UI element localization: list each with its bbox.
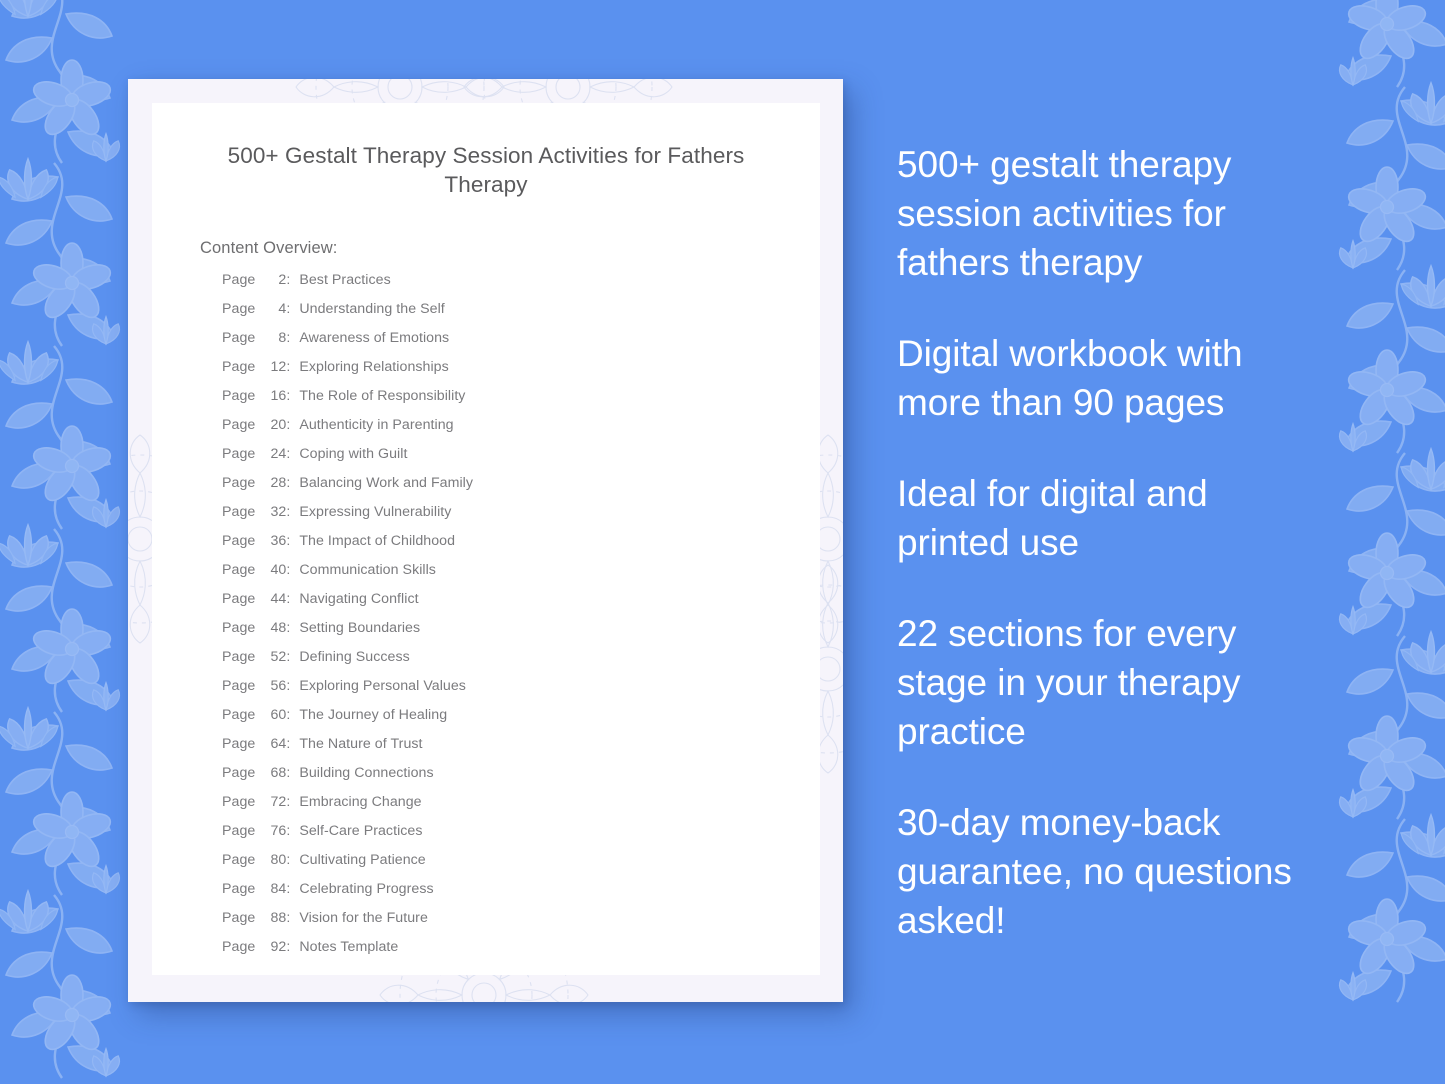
toc-entry[interactable]: Page16:The Role of Responsibility xyxy=(222,388,820,417)
toc-entry-title: The Journey of Healing xyxy=(299,707,447,723)
toc-page-number: 16 xyxy=(260,388,286,404)
toc-entry[interactable]: Page52:Defining Success xyxy=(222,649,820,678)
toc-entry[interactable]: Page44:Navigating Conflict xyxy=(222,591,820,620)
toc-colon: : xyxy=(286,852,290,868)
toc-entry-title: Building Connections xyxy=(299,765,433,781)
toc-page-word: Page xyxy=(222,504,255,520)
toc-page-word: Page xyxy=(222,939,255,955)
toc-page-number: 56 xyxy=(260,678,286,694)
toc-colon: : xyxy=(286,939,290,955)
toc-entry-title: The Role of Responsibility xyxy=(299,388,465,404)
toc-page-word: Page xyxy=(222,910,255,926)
toc-colon: : xyxy=(286,417,290,433)
toc-entry-title: Best Practices xyxy=(299,272,390,288)
floral-vine-icon xyxy=(0,0,144,1084)
toc-entry[interactable]: Page48:Setting Boundaries xyxy=(222,620,820,649)
floral-vine-icon xyxy=(1315,0,1445,1084)
toc-entry[interactable]: Page56:Exploring Personal Values xyxy=(222,678,820,707)
marketing-line: 22 sections for every stage in your ther… xyxy=(897,609,1317,756)
toc-page-number: 92 xyxy=(260,939,286,955)
toc-entry-title: Communication Skills xyxy=(299,562,436,578)
toc-colon: : xyxy=(286,881,290,897)
toc-page-word: Page xyxy=(222,417,255,433)
toc-page-number: 4 xyxy=(260,301,286,317)
toc-page-number: 20 xyxy=(260,417,286,433)
toc-page-word: Page xyxy=(222,620,255,636)
toc-page-number: 36 xyxy=(260,533,286,549)
toc-entry-title: Celebrating Progress xyxy=(299,881,433,897)
toc-entry[interactable]: Page92:Notes Template xyxy=(222,939,820,968)
toc-entry-title: Self-Care Practices xyxy=(299,823,422,839)
toc-entry[interactable]: Page84:Celebrating Progress xyxy=(222,881,820,910)
toc-colon: : xyxy=(286,910,290,926)
toc-page-word: Page xyxy=(222,823,255,839)
toc-colon: : xyxy=(286,388,290,404)
toc-entry[interactable]: Page28:Balancing Work and Family xyxy=(222,475,820,504)
toc-entry[interactable]: Page40:Communication Skills xyxy=(222,562,820,591)
workbook-cover-card: 500+ Gestalt Therapy Session Activities … xyxy=(128,79,843,1002)
toc-colon: : xyxy=(286,272,290,288)
toc-page-number: 48 xyxy=(260,620,286,636)
toc-page-word: Page xyxy=(222,330,255,346)
toc-entry-title: Awareness of Emotions xyxy=(299,330,449,346)
toc-page-number: 88 xyxy=(260,910,286,926)
marketing-line: Digital workbook with more than 90 pages xyxy=(897,329,1317,427)
toc-page-word: Page xyxy=(222,475,255,491)
toc-entry[interactable]: Page12:Exploring Relationships xyxy=(222,359,820,388)
toc-page-word: Page xyxy=(222,707,255,723)
toc-colon: : xyxy=(286,620,290,636)
toc-page-number: 2 xyxy=(260,272,286,288)
toc-colon: : xyxy=(286,678,290,694)
toc-entry[interactable]: Page2:Best Practices xyxy=(222,272,820,301)
marketing-copy: 500+ gestalt therapy session activities … xyxy=(897,140,1317,945)
toc-entry[interactable]: Page8:Awareness of Emotions xyxy=(222,330,820,359)
toc-colon: : xyxy=(286,562,290,578)
toc-colon: : xyxy=(286,736,290,752)
toc-page-word: Page xyxy=(222,591,255,607)
toc-page-number: 44 xyxy=(260,591,286,607)
toc-page-number: 68 xyxy=(260,765,286,781)
toc-entry[interactable]: Page76:Self-Care Practices xyxy=(222,823,820,852)
table-of-contents: Page2:Best PracticesPage4:Understanding … xyxy=(222,272,820,968)
marketing-line: Ideal for digital and printed use xyxy=(897,469,1317,567)
toc-entry-title: Embracing Change xyxy=(299,794,421,810)
toc-page-number: 84 xyxy=(260,881,286,897)
toc-colon: : xyxy=(286,649,290,665)
toc-entry-title: Setting Boundaries xyxy=(299,620,420,636)
toc-entry-title: Defining Success xyxy=(299,649,409,665)
toc-entry[interactable]: Page36:The Impact of Childhood xyxy=(222,533,820,562)
marketing-line: 500+ gestalt therapy session activities … xyxy=(897,140,1317,287)
toc-page-number: 32 xyxy=(260,504,286,520)
document-page: 500+ Gestalt Therapy Session Activities … xyxy=(152,103,820,975)
toc-page-word: Page xyxy=(222,359,255,375)
toc-entry-title: Authenticity in Parenting xyxy=(299,417,453,433)
toc-page-word: Page xyxy=(222,301,255,317)
toc-page-number: 72 xyxy=(260,794,286,810)
toc-entry-title: Notes Template xyxy=(299,939,398,955)
toc-page-word: Page xyxy=(222,562,255,578)
toc-page-number: 52 xyxy=(260,649,286,665)
toc-entry-title: The Nature of Trust xyxy=(299,736,422,752)
toc-page-word: Page xyxy=(222,446,255,462)
toc-entry[interactable]: Page88:Vision for the Future xyxy=(222,910,820,939)
toc-entry[interactable]: Page80:Cultivating Patience xyxy=(222,852,820,881)
toc-entry-title: Cultivating Patience xyxy=(299,852,425,868)
toc-colon: : xyxy=(286,330,290,346)
toc-entry-title: Exploring Relationships xyxy=(299,359,448,375)
toc-page-number: 28 xyxy=(260,475,286,491)
toc-entry-title: Coping with Guilt xyxy=(299,446,407,462)
toc-entry[interactable]: Page4:Understanding the Self xyxy=(222,301,820,330)
toc-entry[interactable]: Page68:Building Connections xyxy=(222,765,820,794)
toc-page-word: Page xyxy=(222,533,255,549)
toc-colon: : xyxy=(286,707,290,723)
toc-page-word: Page xyxy=(222,881,255,897)
marketing-line: 30-day money-back guarantee, no question… xyxy=(897,798,1317,945)
toc-entry[interactable]: Page20:Authenticity in Parenting xyxy=(222,417,820,446)
content-overview-label: Content Overview: xyxy=(200,239,820,258)
toc-page-word: Page xyxy=(222,678,255,694)
toc-page-word: Page xyxy=(222,649,255,665)
toc-colon: : xyxy=(286,359,290,375)
toc-page-number: 8 xyxy=(260,330,286,346)
toc-entry-title: Vision for the Future xyxy=(299,910,428,926)
toc-entry-title: Expressing Vulnerability xyxy=(299,504,451,520)
toc-colon: : xyxy=(286,446,290,462)
toc-colon: : xyxy=(286,794,290,810)
toc-colon: : xyxy=(286,533,290,549)
toc-page-word: Page xyxy=(222,794,255,810)
toc-entry-title: Navigating Conflict xyxy=(299,591,418,607)
toc-page-word: Page xyxy=(222,765,255,781)
toc-entry[interactable]: Page60:The Journey of Healing xyxy=(222,707,820,736)
toc-colon: : xyxy=(286,765,290,781)
toc-page-number: 24 xyxy=(260,446,286,462)
toc-colon: : xyxy=(286,301,290,317)
toc-colon: : xyxy=(286,823,290,839)
toc-page-word: Page xyxy=(222,736,255,752)
toc-page-word: Page xyxy=(222,272,255,288)
toc-entry[interactable]: Page64:The Nature of Trust xyxy=(222,736,820,765)
toc-entry-title: Exploring Personal Values xyxy=(299,678,466,694)
page-title: 500+ Gestalt Therapy Session Activities … xyxy=(196,141,776,199)
toc-entry-title: The Impact of Childhood xyxy=(299,533,455,549)
toc-colon: : xyxy=(286,504,290,520)
toc-colon: : xyxy=(286,591,290,607)
toc-page-number: 60 xyxy=(260,707,286,723)
toc-page-number: 80 xyxy=(260,852,286,868)
toc-page-word: Page xyxy=(222,388,255,404)
toc-page-number: 76 xyxy=(260,823,286,839)
toc-page-number: 12 xyxy=(260,359,286,375)
toc-entry[interactable]: Page24:Coping with Guilt xyxy=(222,446,820,475)
toc-entry-title: Understanding the Self xyxy=(299,301,444,317)
toc-page-number: 64 xyxy=(260,736,286,752)
toc-entry[interactable]: Page72:Embracing Change xyxy=(222,794,820,823)
product-mockup-canvas: 500+ Gestalt Therapy Session Activities … xyxy=(0,0,1445,1084)
toc-entry-title: Balancing Work and Family xyxy=(299,475,473,491)
toc-colon: : xyxy=(286,475,290,491)
toc-entry[interactable]: Page32:Expressing Vulnerability xyxy=(222,504,820,533)
toc-page-word: Page xyxy=(222,852,255,868)
toc-page-number: 40 xyxy=(260,562,286,578)
